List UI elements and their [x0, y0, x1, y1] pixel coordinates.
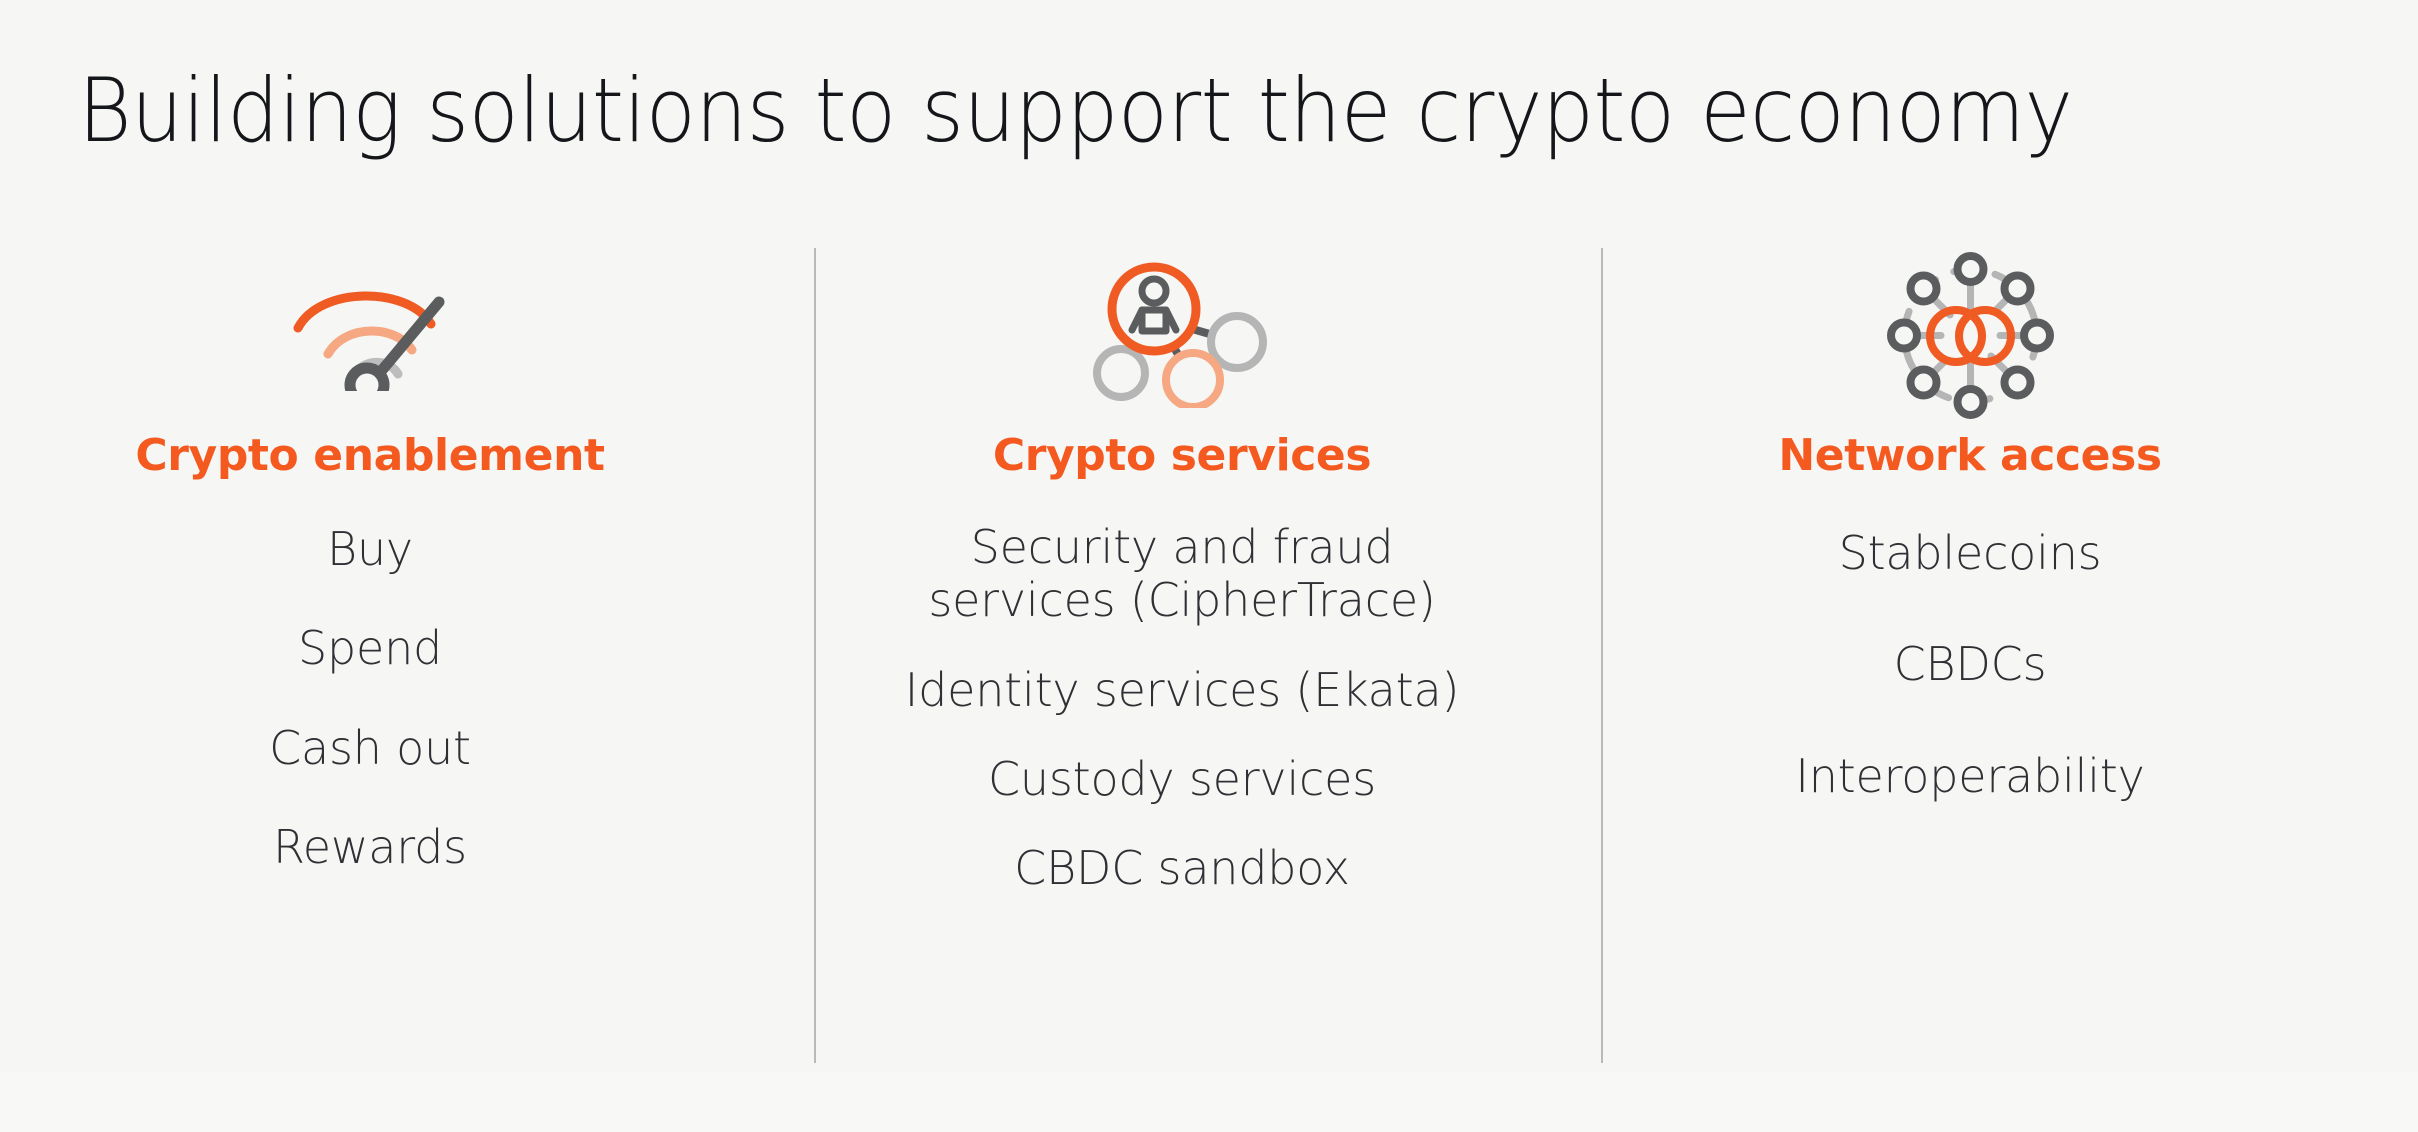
column-crypto-services: Crypto services Security and fraud servi…: [812, 236, 1552, 896]
list-item: Stablecoins: [1600, 527, 2340, 580]
list-item: CBDC sandbox: [812, 842, 1552, 895]
list-item: Security and fraud services (CipherTrace…: [922, 521, 1442, 628]
slide-canvas: Building solutions to support the crypto…: [0, 0, 2418, 1132]
list-item: CBDCs: [1600, 638, 2340, 691]
column-heading: Network access: [1778, 430, 2161, 481]
page-title: Building solutions to support the crypto…: [78, 65, 2217, 157]
columns-container: Crypto enablement Buy Spend Cash out Rew…: [0, 236, 2418, 1096]
list-item: Buy: [0, 523, 740, 576]
list-item: Spend: [0, 622, 740, 675]
item-list-3: Stablecoins CBDCs Interoperability: [1600, 481, 2340, 803]
list-item: Cash out: [0, 722, 740, 775]
icon-container-1: [290, 236, 450, 426]
list-item: Custody services: [812, 753, 1552, 806]
item-list-1: Buy Spend Cash out Rewards: [0, 481, 740, 874]
column-heading: Crypto services: [993, 430, 1371, 481]
column-heading: Crypto enablement: [135, 430, 604, 481]
interlinked-rings-network-icon: [1883, 248, 2058, 428]
signal-gauge-icon: [290, 266, 450, 396]
icon-container-3: [1883, 236, 2058, 426]
list-item: Identity services (Ekata): [812, 664, 1552, 717]
person-network-icon: [1090, 258, 1275, 413]
icon-container-2: [1090, 236, 1275, 426]
list-item: Rewards: [0, 821, 740, 874]
column-crypto-enablement: Crypto enablement Buy Spend Cash out Rew…: [0, 236, 740, 874]
list-item: Interoperability: [1600, 750, 2340, 803]
column-network-access: Network access Stablecoins CBDCs Interop…: [1600, 236, 2340, 803]
item-list-2: Security and fraud services (CipherTrace…: [812, 481, 1552, 896]
